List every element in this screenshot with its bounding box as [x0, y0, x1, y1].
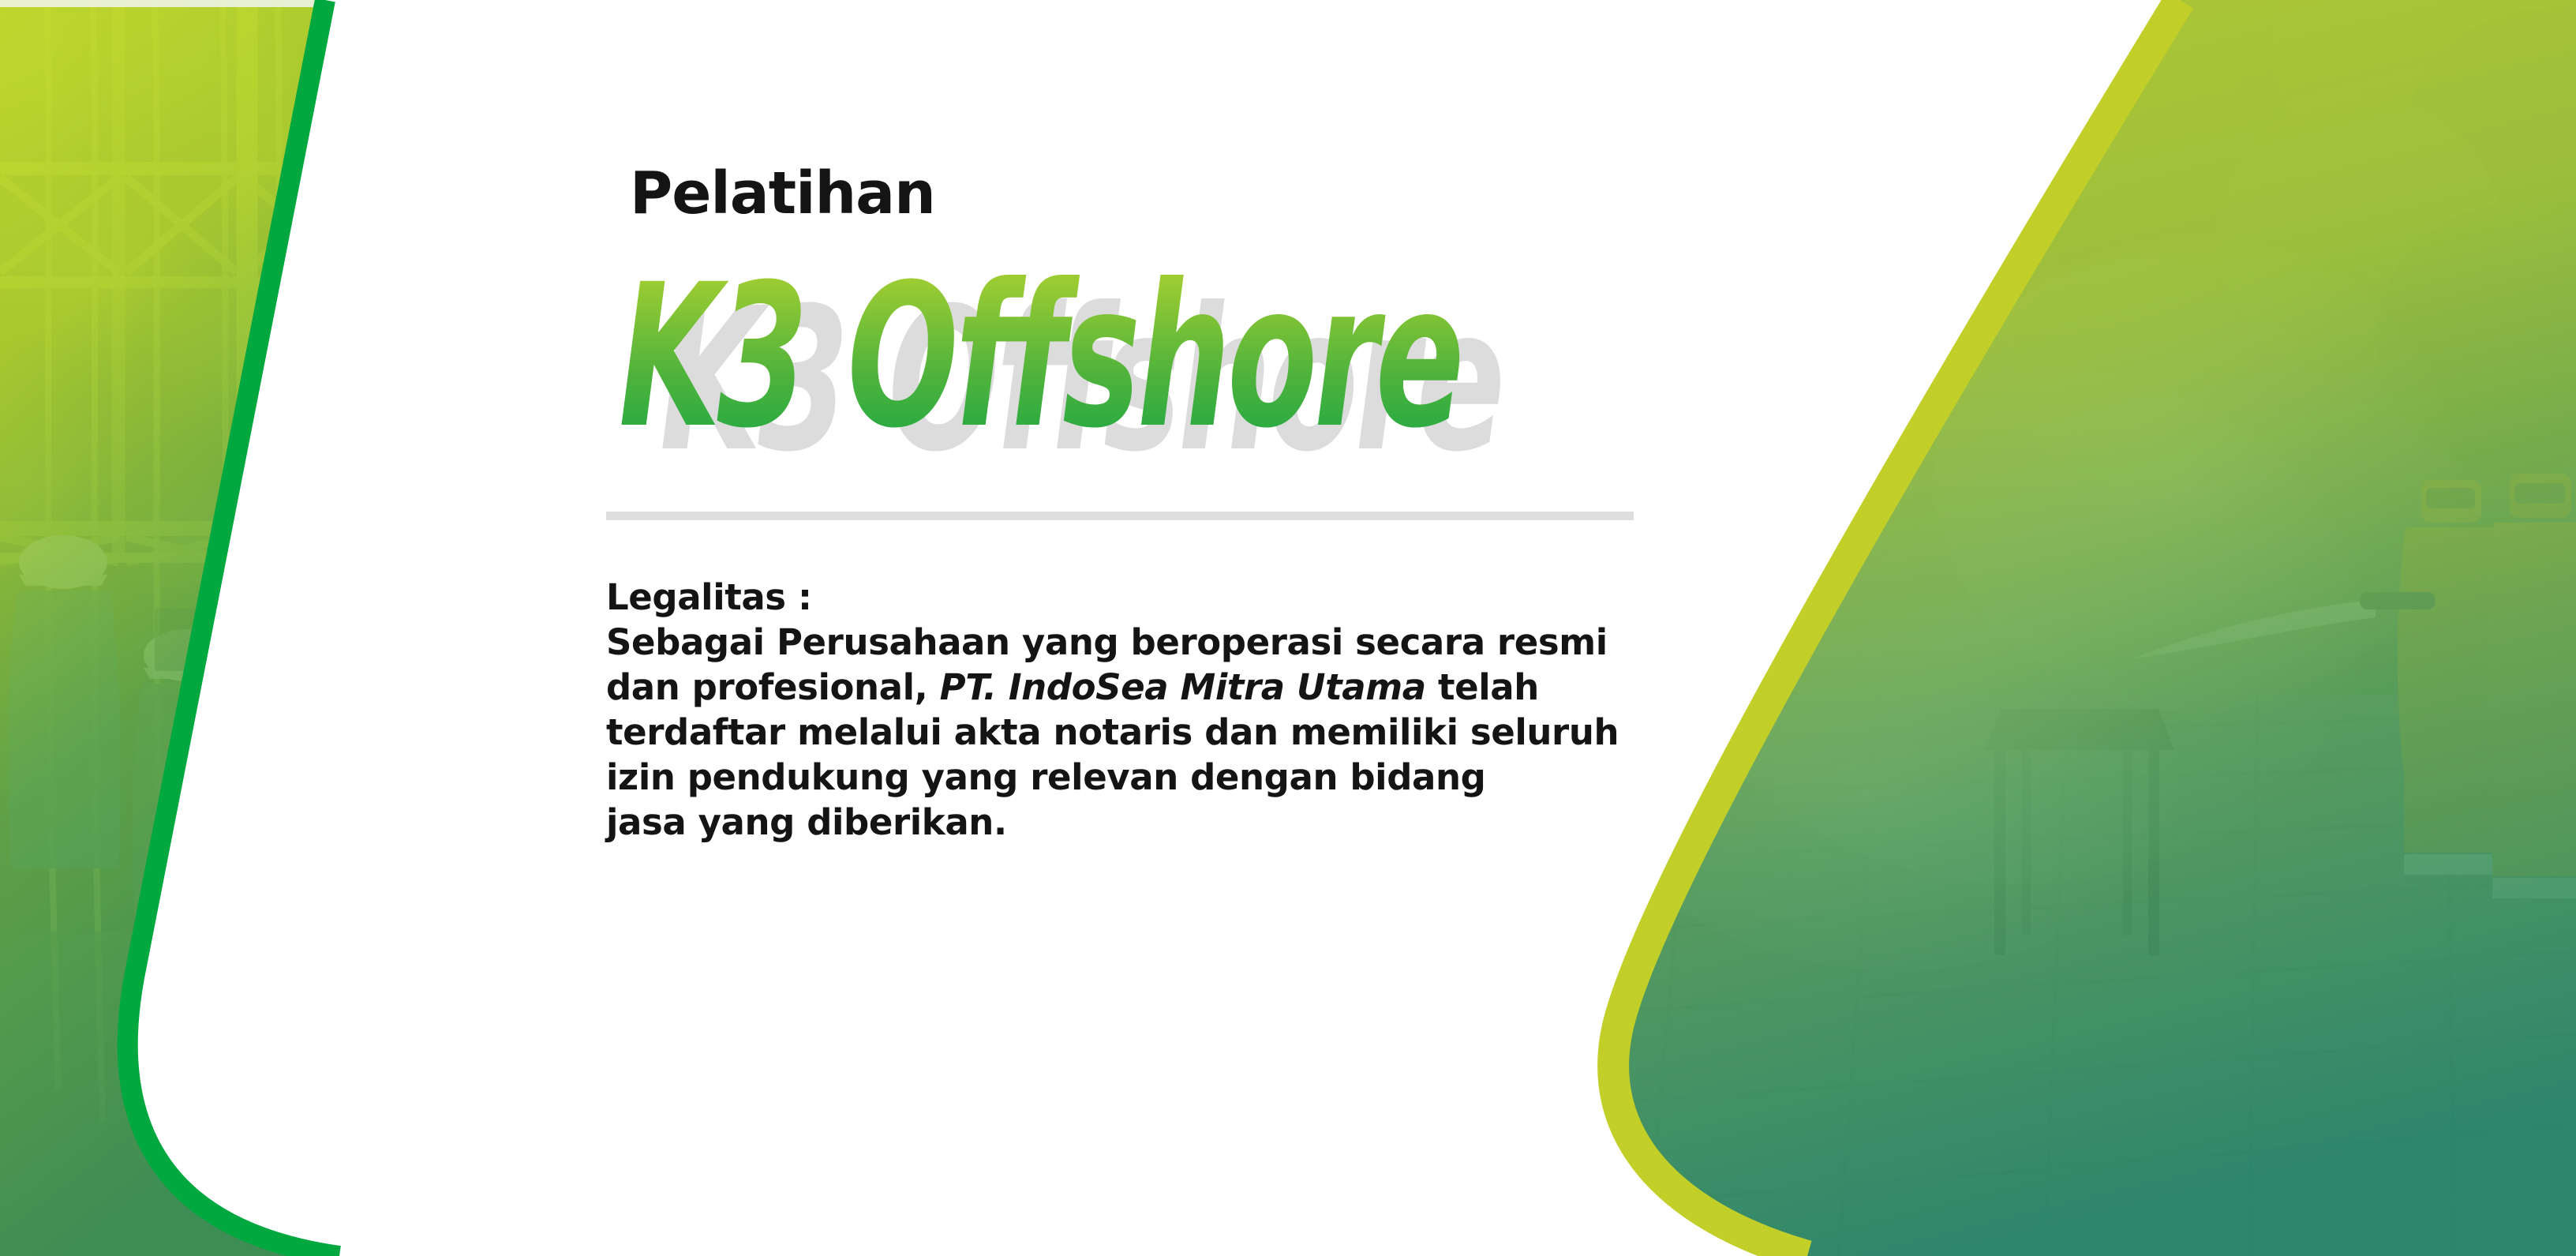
content-column: Pelatihan K3 Offshore K3 Offshore Legali…: [600, 0, 1642, 1256]
legality-line-2-prefix: dan profesional,: [606, 666, 940, 708]
trainee-figures: [8, 535, 326, 932]
legality-line-2: dan profesional, PT. IndoSea Mitra Utama…: [606, 665, 1656, 710]
headline-title: K3 Offshore: [619, 242, 1461, 471]
left-shape-border: [128, 0, 339, 1256]
slide-canvas: Pelatihan K3 Offshore K3 Offshore Legali…: [0, 0, 2576, 1256]
divider-rule: [606, 512, 1634, 520]
legality-line-2-suffix: telah: [1426, 666, 1539, 708]
right-photo-panel: [1578, 0, 2576, 1256]
legality-label: Legalitas :: [606, 575, 1656, 620]
eyebrow-label: Pelatihan: [630, 164, 935, 223]
headline-svg: K3 Offshore K3 Offshore: [619, 237, 1637, 497]
legality-text-block: Legalitas : Sebagai Perusahaan yang bero…: [606, 575, 1656, 845]
legality-line-5: jasa yang diberikan.: [606, 800, 1656, 845]
headline-block: K3 Offshore K3 Offshore: [619, 237, 1637, 489]
legality-line-1: Sebagai Perusahaan yang beroperasi secar…: [606, 620, 1656, 665]
legality-line-4: izin pendukung yang relevan dengan bidan…: [606, 755, 1656, 800]
firefighter-figures: [2360, 474, 2576, 898]
company-name: PT. IndoSea Mitra Utama: [940, 666, 1426, 708]
legality-line-3: terdaftar melalui akta notaris dan memil…: [606, 710, 1656, 755]
fire-tray: [1985, 709, 2174, 955]
left-photo-panel: [0, 0, 410, 1256]
right-shape-border: [1613, 0, 2180, 1256]
